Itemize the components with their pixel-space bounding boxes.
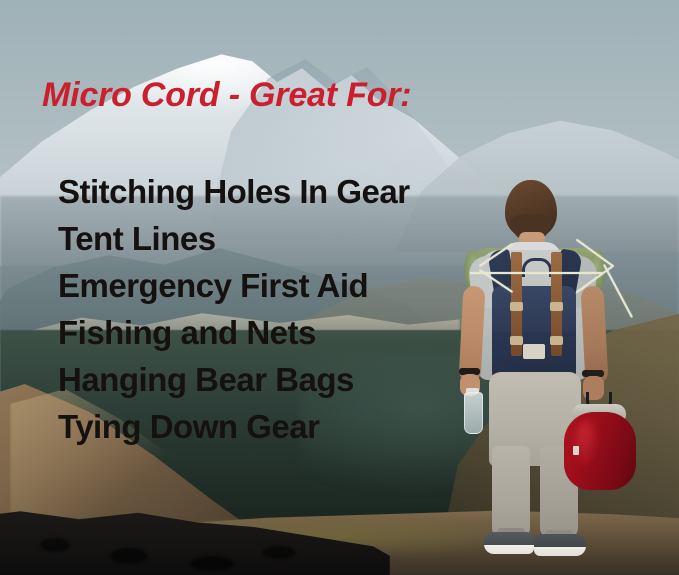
stuff-sack-highlight xyxy=(574,420,600,468)
list-item: Stitching Holes In Gear xyxy=(58,168,478,215)
strap-buckle-right xyxy=(550,302,563,311)
list-item: Tent Lines xyxy=(58,215,478,262)
benefits-list: Stitching Holes In Gear Tent Lines Emerg… xyxy=(58,168,478,450)
backpack-logo-patch xyxy=(523,344,545,359)
list-item: Fishing and Nets xyxy=(58,309,478,356)
shoe-left xyxy=(484,532,534,554)
micro-cord-tail xyxy=(603,264,633,318)
backpack-flap xyxy=(492,286,576,332)
shoe-right xyxy=(534,534,586,556)
leg-left xyxy=(492,446,530,538)
list-item: Hanging Bear Bags xyxy=(58,356,478,403)
micro-cord-horizontal xyxy=(470,272,602,274)
backpack-carry-handle xyxy=(522,258,552,277)
strap-buckle-right-lower xyxy=(550,336,563,345)
product-feature-poster: Micro Cord - Great For: Stitching Holes … xyxy=(0,0,679,575)
page-title: Micro Cord - Great For: xyxy=(42,76,411,115)
strap-buckle-left-lower xyxy=(510,336,523,345)
list-item: Emergency First Aid xyxy=(58,262,478,309)
stuff-sack-tag xyxy=(573,446,579,455)
list-item: Tying Down Gear xyxy=(58,403,478,450)
strap-buckle-left xyxy=(510,302,523,311)
